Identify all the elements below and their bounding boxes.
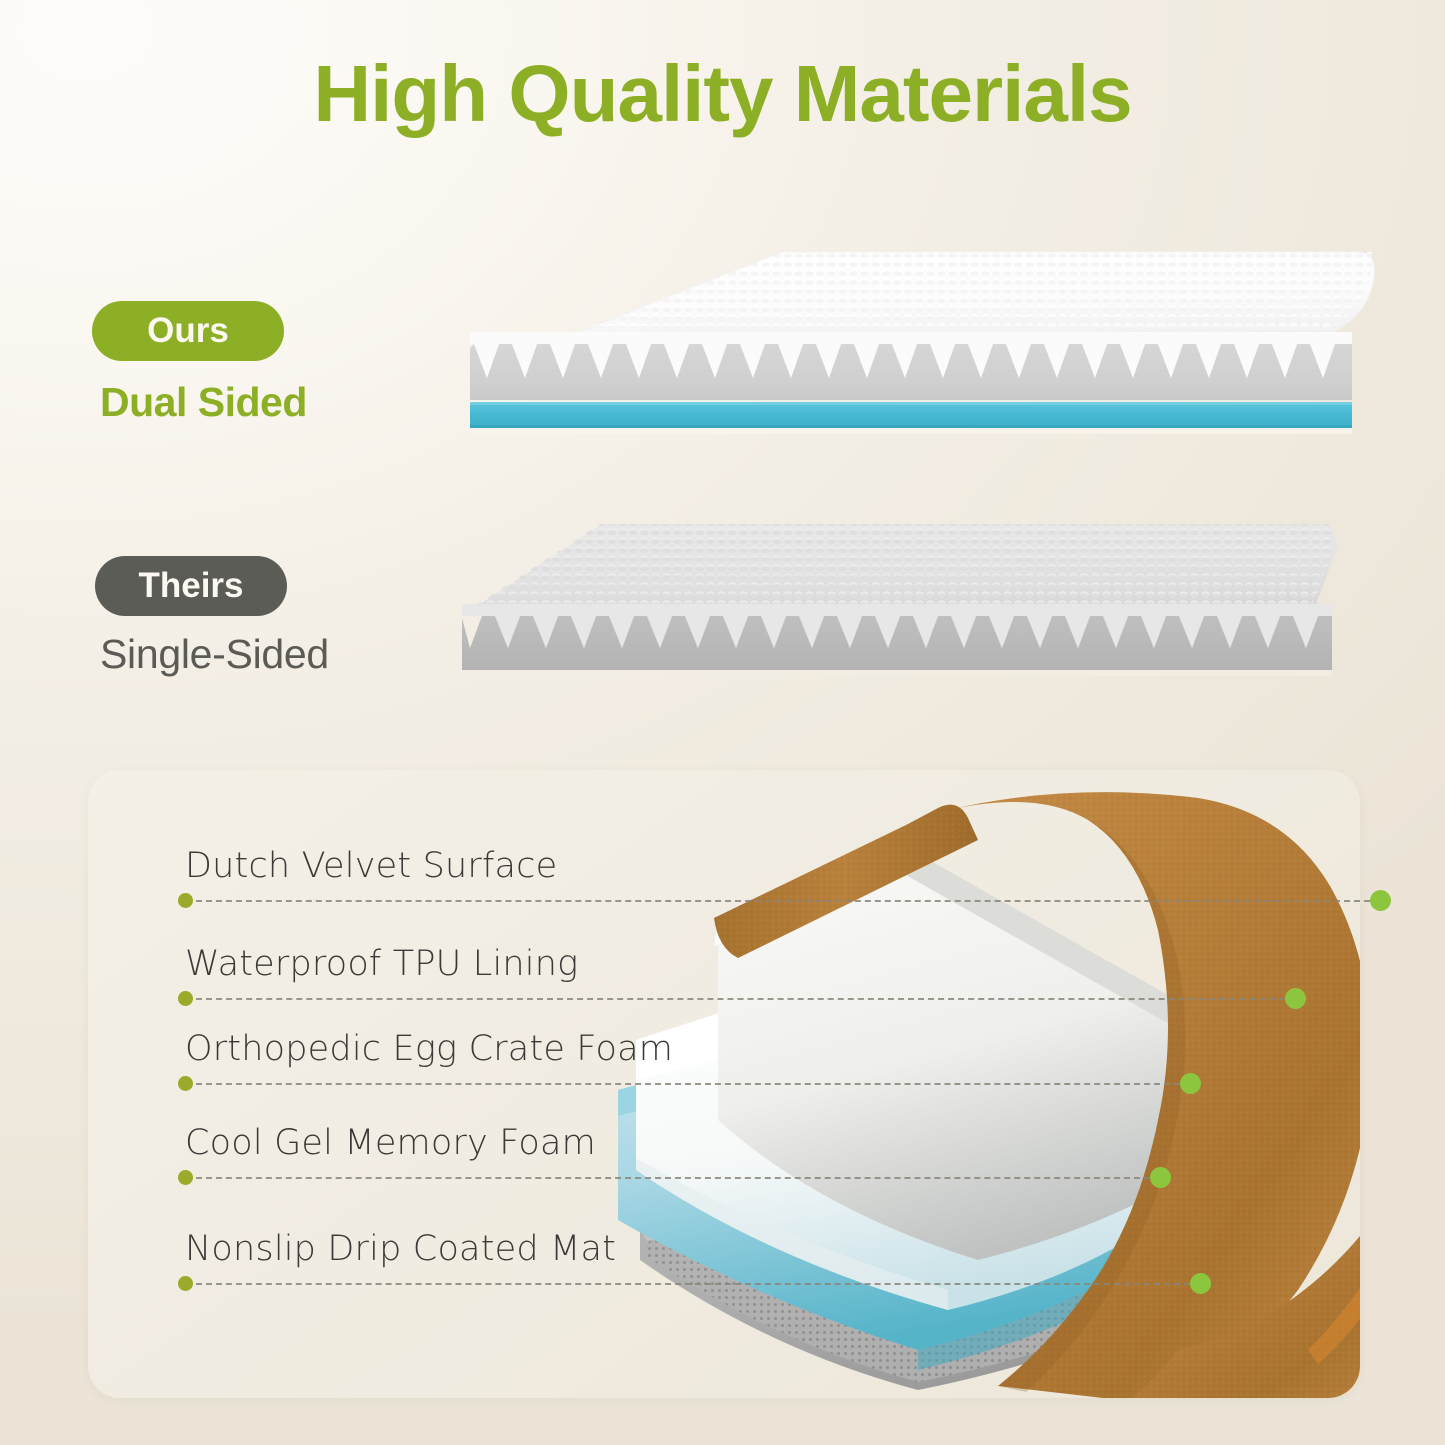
badge-theirs-label: Theirs	[138, 566, 243, 606]
infographic-root: High Quality Materials Ours Dual Sided	[0, 0, 1445, 1445]
material-callout-start-dot	[178, 1170, 193, 1185]
mattress-ours-illustration	[452, 232, 1382, 462]
material-callout-label: Dutch Velvet Surface	[185, 846, 557, 886]
subtitle-theirs: Single-Sided	[100, 634, 329, 675]
material-callout-start-dot	[178, 893, 193, 908]
material-callout-end-dot	[1190, 1273, 1211, 1294]
material-callout-label: Nonslip Drip Coated Mat	[185, 1229, 616, 1269]
material-callout-end-dot	[1150, 1167, 1171, 1188]
material-callout-dashed-line	[186, 1083, 1180, 1085]
material-callout-start-dot	[178, 1276, 193, 1291]
badge-ours-label: Ours	[147, 311, 229, 351]
material-callout-label: Orthopedic Egg Crate Foam	[185, 1029, 673, 1069]
material-callout-dashed-line	[186, 1177, 1150, 1179]
subtitle-ours: Dual Sided	[100, 382, 307, 423]
material-callout-dashed-line	[186, 900, 1370, 902]
badge-theirs: Theirs	[95, 556, 287, 616]
page-title: High Quality Materials	[0, 52, 1445, 136]
material-callout-end-dot	[1370, 890, 1391, 911]
material-callout-label: Waterproof TPU Lining	[185, 944, 578, 984]
layered-bath-mat-cutaway-photo	[618, 790, 1360, 1398]
material-callout-dashed-line	[186, 998, 1285, 1000]
material-callout-start-dot	[178, 1076, 193, 1091]
material-callout-end-dot	[1285, 988, 1306, 1009]
material-callout-dashed-line	[186, 1283, 1190, 1285]
material-callout-end-dot	[1180, 1073, 1201, 1094]
mattress-theirs-illustration	[452, 500, 1382, 690]
material-callout-start-dot	[178, 991, 193, 1006]
material-callout-label: Cool Gel Memory Foam	[185, 1123, 596, 1163]
badge-ours: Ours	[92, 301, 284, 361]
